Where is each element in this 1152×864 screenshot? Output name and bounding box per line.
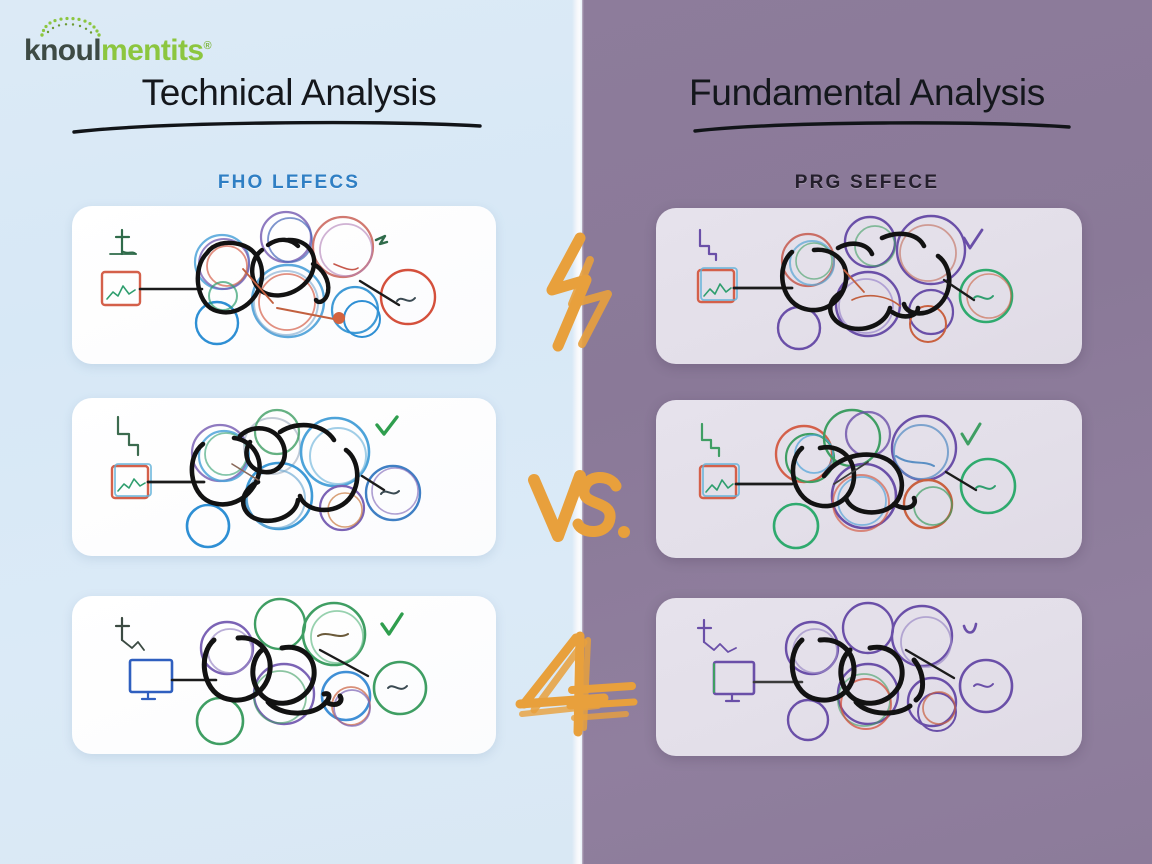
card-left-3[interactable] (72, 596, 496, 754)
sketch-network-diagram (656, 208, 1082, 364)
sketch-network-diagram (656, 400, 1082, 558)
right-title-underline (692, 118, 1072, 136)
slide-canvas: knoulmentits® Technical Analysis Fundame… (0, 0, 1152, 864)
divider-1 (528, 232, 634, 352)
scribbled-four-icon (514, 628, 644, 738)
brand-name-part2: mentits (101, 34, 204, 67)
card-right-3[interactable] (656, 598, 1082, 756)
lightning-bolt-icon (528, 232, 634, 352)
sketch-network-diagram (72, 206, 496, 364)
left-column-subtitle: FHO LEFECS (0, 172, 578, 194)
brand-name-part1: knoul (24, 34, 101, 67)
brand-logo-text: knoulmentits® (24, 34, 211, 68)
sketch-network-diagram (72, 596, 496, 754)
left-column-title: Technical Analysis (0, 72, 578, 114)
brand-logo[interactable]: knoulmentits® (14, 16, 264, 68)
divider-3 (514, 628, 644, 738)
right-column-subtitle: PRG SEFECE (582, 172, 1152, 194)
sketch-network-diagram (656, 598, 1082, 756)
vs-text-icon (524, 462, 636, 552)
divider-2 (524, 462, 636, 552)
sketch-network-diagram (72, 398, 496, 556)
card-right-1[interactable] (656, 208, 1082, 364)
card-right-2[interactable] (656, 400, 1082, 558)
card-left-1[interactable] (72, 206, 496, 364)
right-column-title: Fundamental Analysis (582, 72, 1152, 114)
left-title-underline (72, 118, 482, 136)
brand-trademark: ® (204, 40, 212, 52)
card-left-2[interactable] (72, 398, 496, 556)
